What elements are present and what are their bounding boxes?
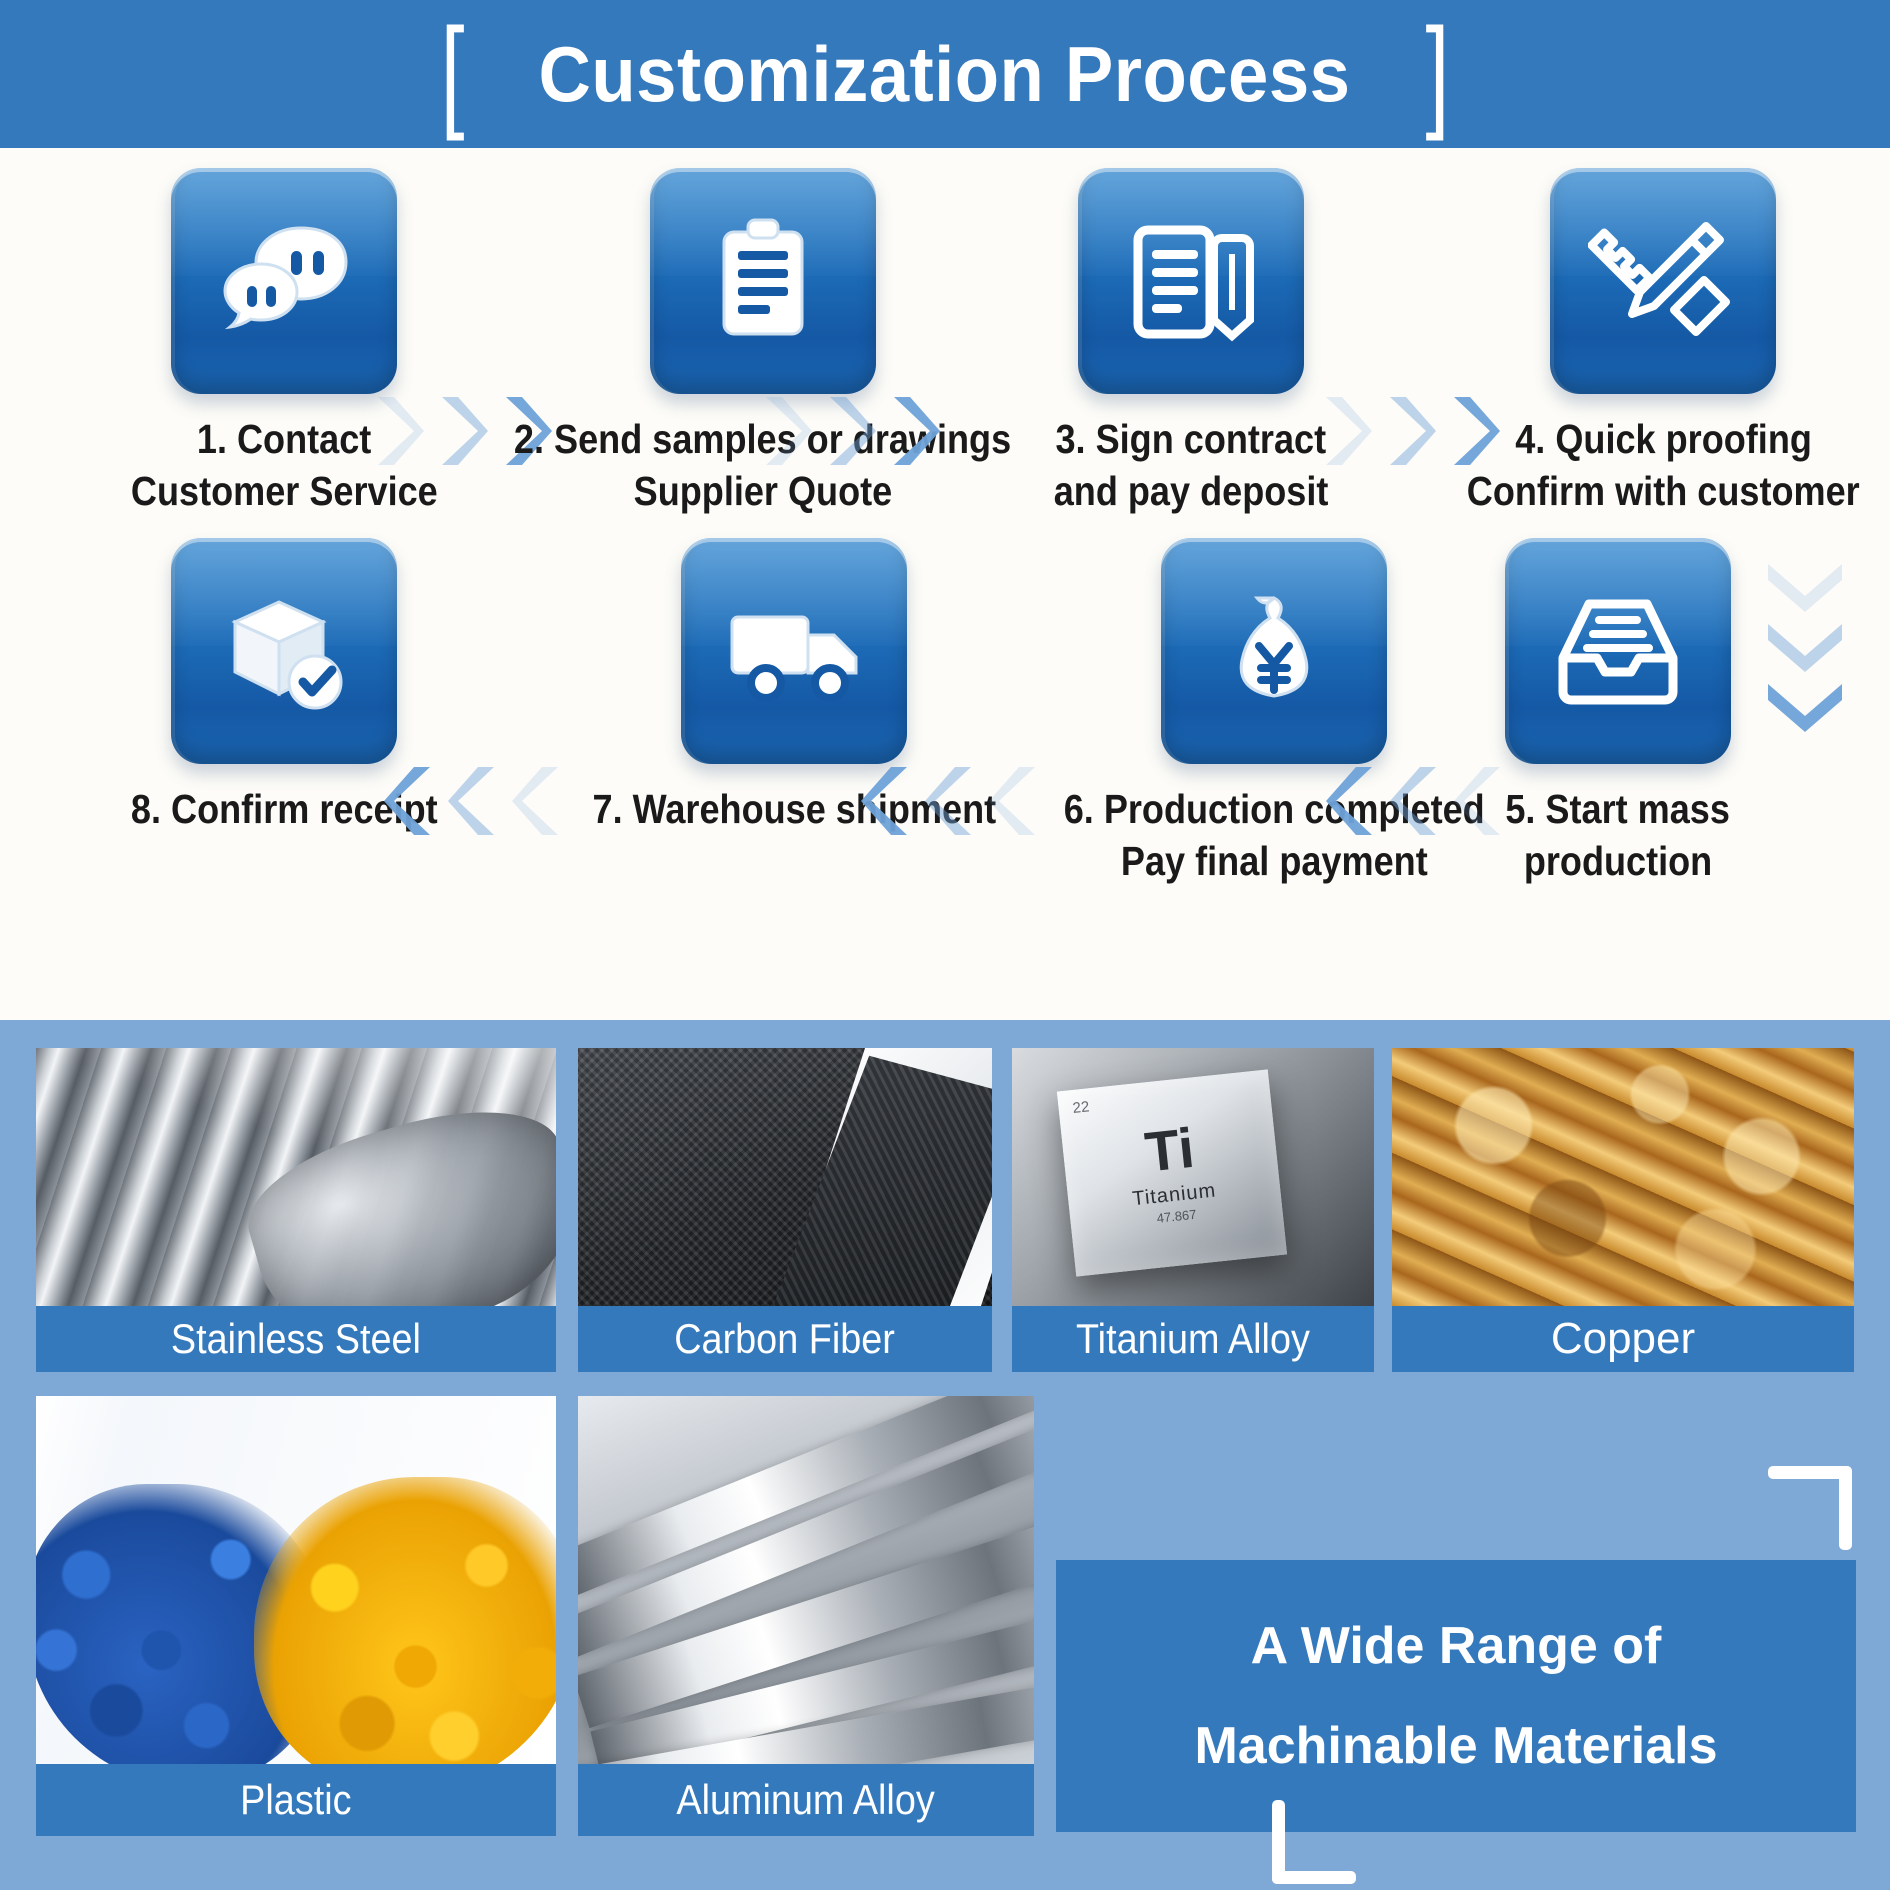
titanium-cube-photo: 22 Ti Titanium 47.867	[1012, 1048, 1374, 1306]
titanium-element-cube: 22 Ti Titanium 47.867	[1057, 1069, 1287, 1276]
package-check-icon	[171, 538, 397, 764]
material-label-copper: Copper	[1551, 1317, 1695, 1361]
arrow-step6-to-step7	[855, 763, 1041, 839]
step-1-label-line2: Customer Service	[131, 466, 438, 516]
material-label-titanium-alloy: Titanium Alloy	[1076, 1318, 1310, 1360]
material-caption-aluminum-alloy: Aluminum Alloy	[578, 1764, 1034, 1836]
material-card-carbon-fiber[interactable]: Carbon Fiber	[578, 1048, 992, 1372]
material-card-titanium-alloy[interactable]: 22 Ti Titanium 47.867 Titanium Alloy	[1012, 1048, 1374, 1372]
step-5-label-line1: 5. Start mass	[1505, 784, 1730, 834]
blurb-line-2: Machinable Materials	[1194, 1720, 1717, 1772]
material-caption-plastic: Plastic	[36, 1764, 556, 1836]
material-card-plastic[interactable]: Plastic	[36, 1396, 556, 1836]
process-step-5: 5. Start mass production	[1490, 538, 1745, 886]
money-bag-yen-icon	[1161, 538, 1387, 764]
page-header: [ Customization Process ]	[0, 0, 1890, 148]
material-label-plastic: Plastic	[240, 1779, 351, 1821]
step-4-label-line2: Confirm with customer	[1467, 466, 1860, 516]
arrow-row1-to-row2	[1762, 558, 1848, 736]
material-caption-copper: Copper	[1392, 1306, 1854, 1372]
step-4-label-line1: 4. Quick proofing	[1515, 414, 1812, 464]
step-3-label-line2: and pay deposit	[1054, 466, 1329, 516]
carbon-fiber-sheet-photo	[578, 1048, 992, 1306]
stainless-steel-bars-photo	[36, 1048, 556, 1306]
step-6-label-line2: Pay final payment	[1121, 836, 1428, 886]
materials-section: Stainless Steel Carbon Fiber 22 Ti Titan…	[0, 1020, 1890, 1890]
infographic-page: [ Customization Process ]	[0, 0, 1890, 1890]
bottom-left-corner-bracket-icon	[1272, 1800, 1356, 1884]
arrow-step7-to-step8	[378, 763, 564, 839]
arrow-step2-to-step3	[760, 393, 946, 469]
delivery-truck-icon	[681, 538, 907, 764]
titanium-symbol: Ti	[1142, 1120, 1196, 1181]
material-card-aluminum-alloy[interactable]: Aluminum Alloy	[578, 1396, 1034, 1836]
material-label-stainless-steel: Stainless Steel	[171, 1318, 421, 1360]
material-caption-stainless-steel: Stainless Steel	[36, 1306, 556, 1372]
left-bracket-icon: [	[441, 10, 465, 135]
material-label-aluminum-alloy: Aluminum Alloy	[677, 1779, 935, 1821]
material-label-carbon-fiber: Carbon Fiber	[675, 1318, 896, 1360]
plastic-pellets-photo	[36, 1396, 556, 1764]
step-2-label-line2: Supplier Quote	[633, 466, 892, 516]
material-card-stainless-steel[interactable]: Stainless Steel	[36, 1048, 556, 1372]
material-caption-titanium-alloy: Titanium Alloy	[1012, 1306, 1374, 1372]
material-card-copper[interactable]: Copper	[1392, 1048, 1854, 1372]
material-caption-carbon-fiber: Carbon Fiber	[578, 1306, 992, 1372]
titanium-atomic-number: 22	[1072, 1098, 1090, 1117]
step-5-label-line2: production	[1523, 836, 1711, 886]
step-1-label-line1: 1. Contact	[197, 414, 371, 464]
titanium-atomic-mass: 47.867	[1156, 1207, 1197, 1226]
clipboard-icon	[650, 168, 876, 394]
top-right-corner-bracket-icon	[1768, 1466, 1852, 1550]
inbox-tray-icon	[1505, 538, 1731, 764]
process-flow-section: 1. Contact Customer Service	[0, 148, 1890, 1020]
right-bracket-icon: ]	[1426, 10, 1450, 135]
chat-bubbles-icon	[171, 168, 397, 394]
step-3-label-line1: 3. Sign contract	[1056, 414, 1327, 464]
pencil-ruler-icon	[1550, 168, 1776, 394]
aluminum-tubes-photo	[578, 1396, 1034, 1764]
page-title: Customization Process	[539, 29, 1351, 120]
process-step-3: 3. Sign contract and pay deposit	[1035, 168, 1347, 516]
process-step-4: 4. Quick proofing Confirm with customer	[1440, 168, 1886, 516]
copper-rods-photo	[1392, 1048, 1854, 1306]
titanium-element-name: Titanium	[1131, 1180, 1217, 1212]
contract-pencil-icon	[1078, 168, 1304, 394]
arrow-step5-to-step6	[1320, 763, 1506, 839]
materials-blurb-panel: A Wide Range of Machinable Materials	[1056, 1560, 1856, 1832]
blurb-line-1: A Wide Range of	[1251, 1620, 1662, 1672]
